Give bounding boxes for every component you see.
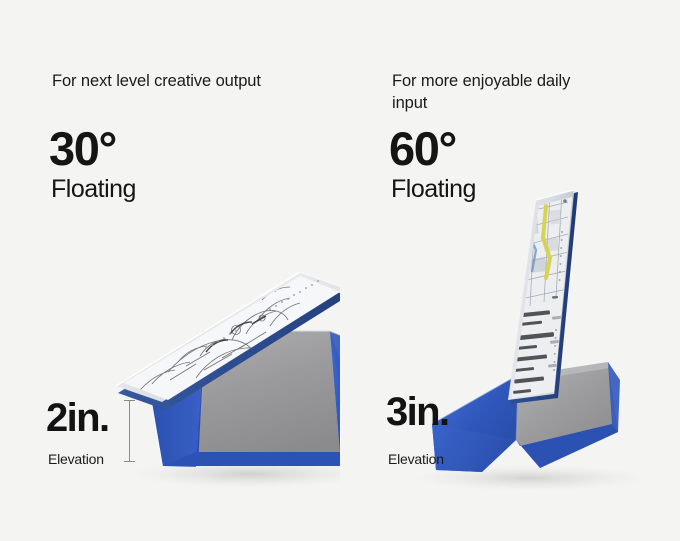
screen-map-content — [500, 190, 590, 405]
panel-60-degree: For more enjoyable daily input 60° Float… — [340, 0, 680, 541]
elevation-value-left: 2in. — [46, 398, 109, 438]
eyebrow-text-right: For more enjoyable daily input — [392, 71, 607, 115]
elevation-label-left: Elevation — [48, 452, 104, 466]
stand-blue-base — [163, 452, 340, 466]
screen-text-lines — [513, 310, 554, 394]
elevation-label-right: Elevation — [388, 452, 444, 466]
product-comparison-image: For next level creative output 30° Float… — [0, 0, 680, 541]
angle-value-right: 60° — [389, 125, 456, 172]
panel-30-degree: For next level creative output 30° Float… — [0, 0, 340, 541]
stand-gray-top-edge — [518, 362, 610, 382]
ground-shadow — [412, 465, 648, 491]
device-body — [116, 272, 340, 402]
measure-cap-bottom — [124, 461, 135, 462]
stand-blue-right-sliver — [608, 362, 620, 432]
stand-blue-left-wedge — [150, 330, 205, 466]
stand-gray-panel — [516, 362, 618, 468]
device-screen — [512, 197, 572, 398]
measurement-rule-left — [124, 400, 135, 462]
stand-blue-base-right — [516, 424, 618, 468]
device-camera — [563, 199, 567, 203]
screen-route-highlight — [543, 206, 550, 278]
mode-label-left: Floating — [51, 177, 136, 202]
device-case-edge — [118, 279, 340, 410]
measure-stem — [129, 400, 130, 462]
stand-blue-left-face — [150, 331, 205, 467]
device-speaker-grille — [205, 280, 319, 349]
device-case-edge — [510, 192, 578, 404]
device-speaker-grille — [553, 231, 563, 371]
device-port — [552, 296, 558, 299]
device-body — [508, 190, 574, 400]
screen-sketch-accents — [206, 316, 266, 352]
stand-gray-fold-right — [330, 331, 340, 466]
stand-blue-right-face — [330, 332, 340, 463]
ground-shadow — [130, 460, 340, 488]
device-screen — [124, 276, 340, 400]
elevation-value-right: 3in. — [386, 392, 449, 432]
mode-label-right: Floating — [391, 177, 476, 202]
stand-gray-panel — [196, 331, 340, 466]
screen-sketch-artwork — [140, 287, 300, 390]
angle-value-left: 30° — [49, 125, 116, 172]
eyebrow-text-left: For next level creative output — [52, 71, 267, 93]
stand-blue-right-wedge — [330, 332, 340, 466]
